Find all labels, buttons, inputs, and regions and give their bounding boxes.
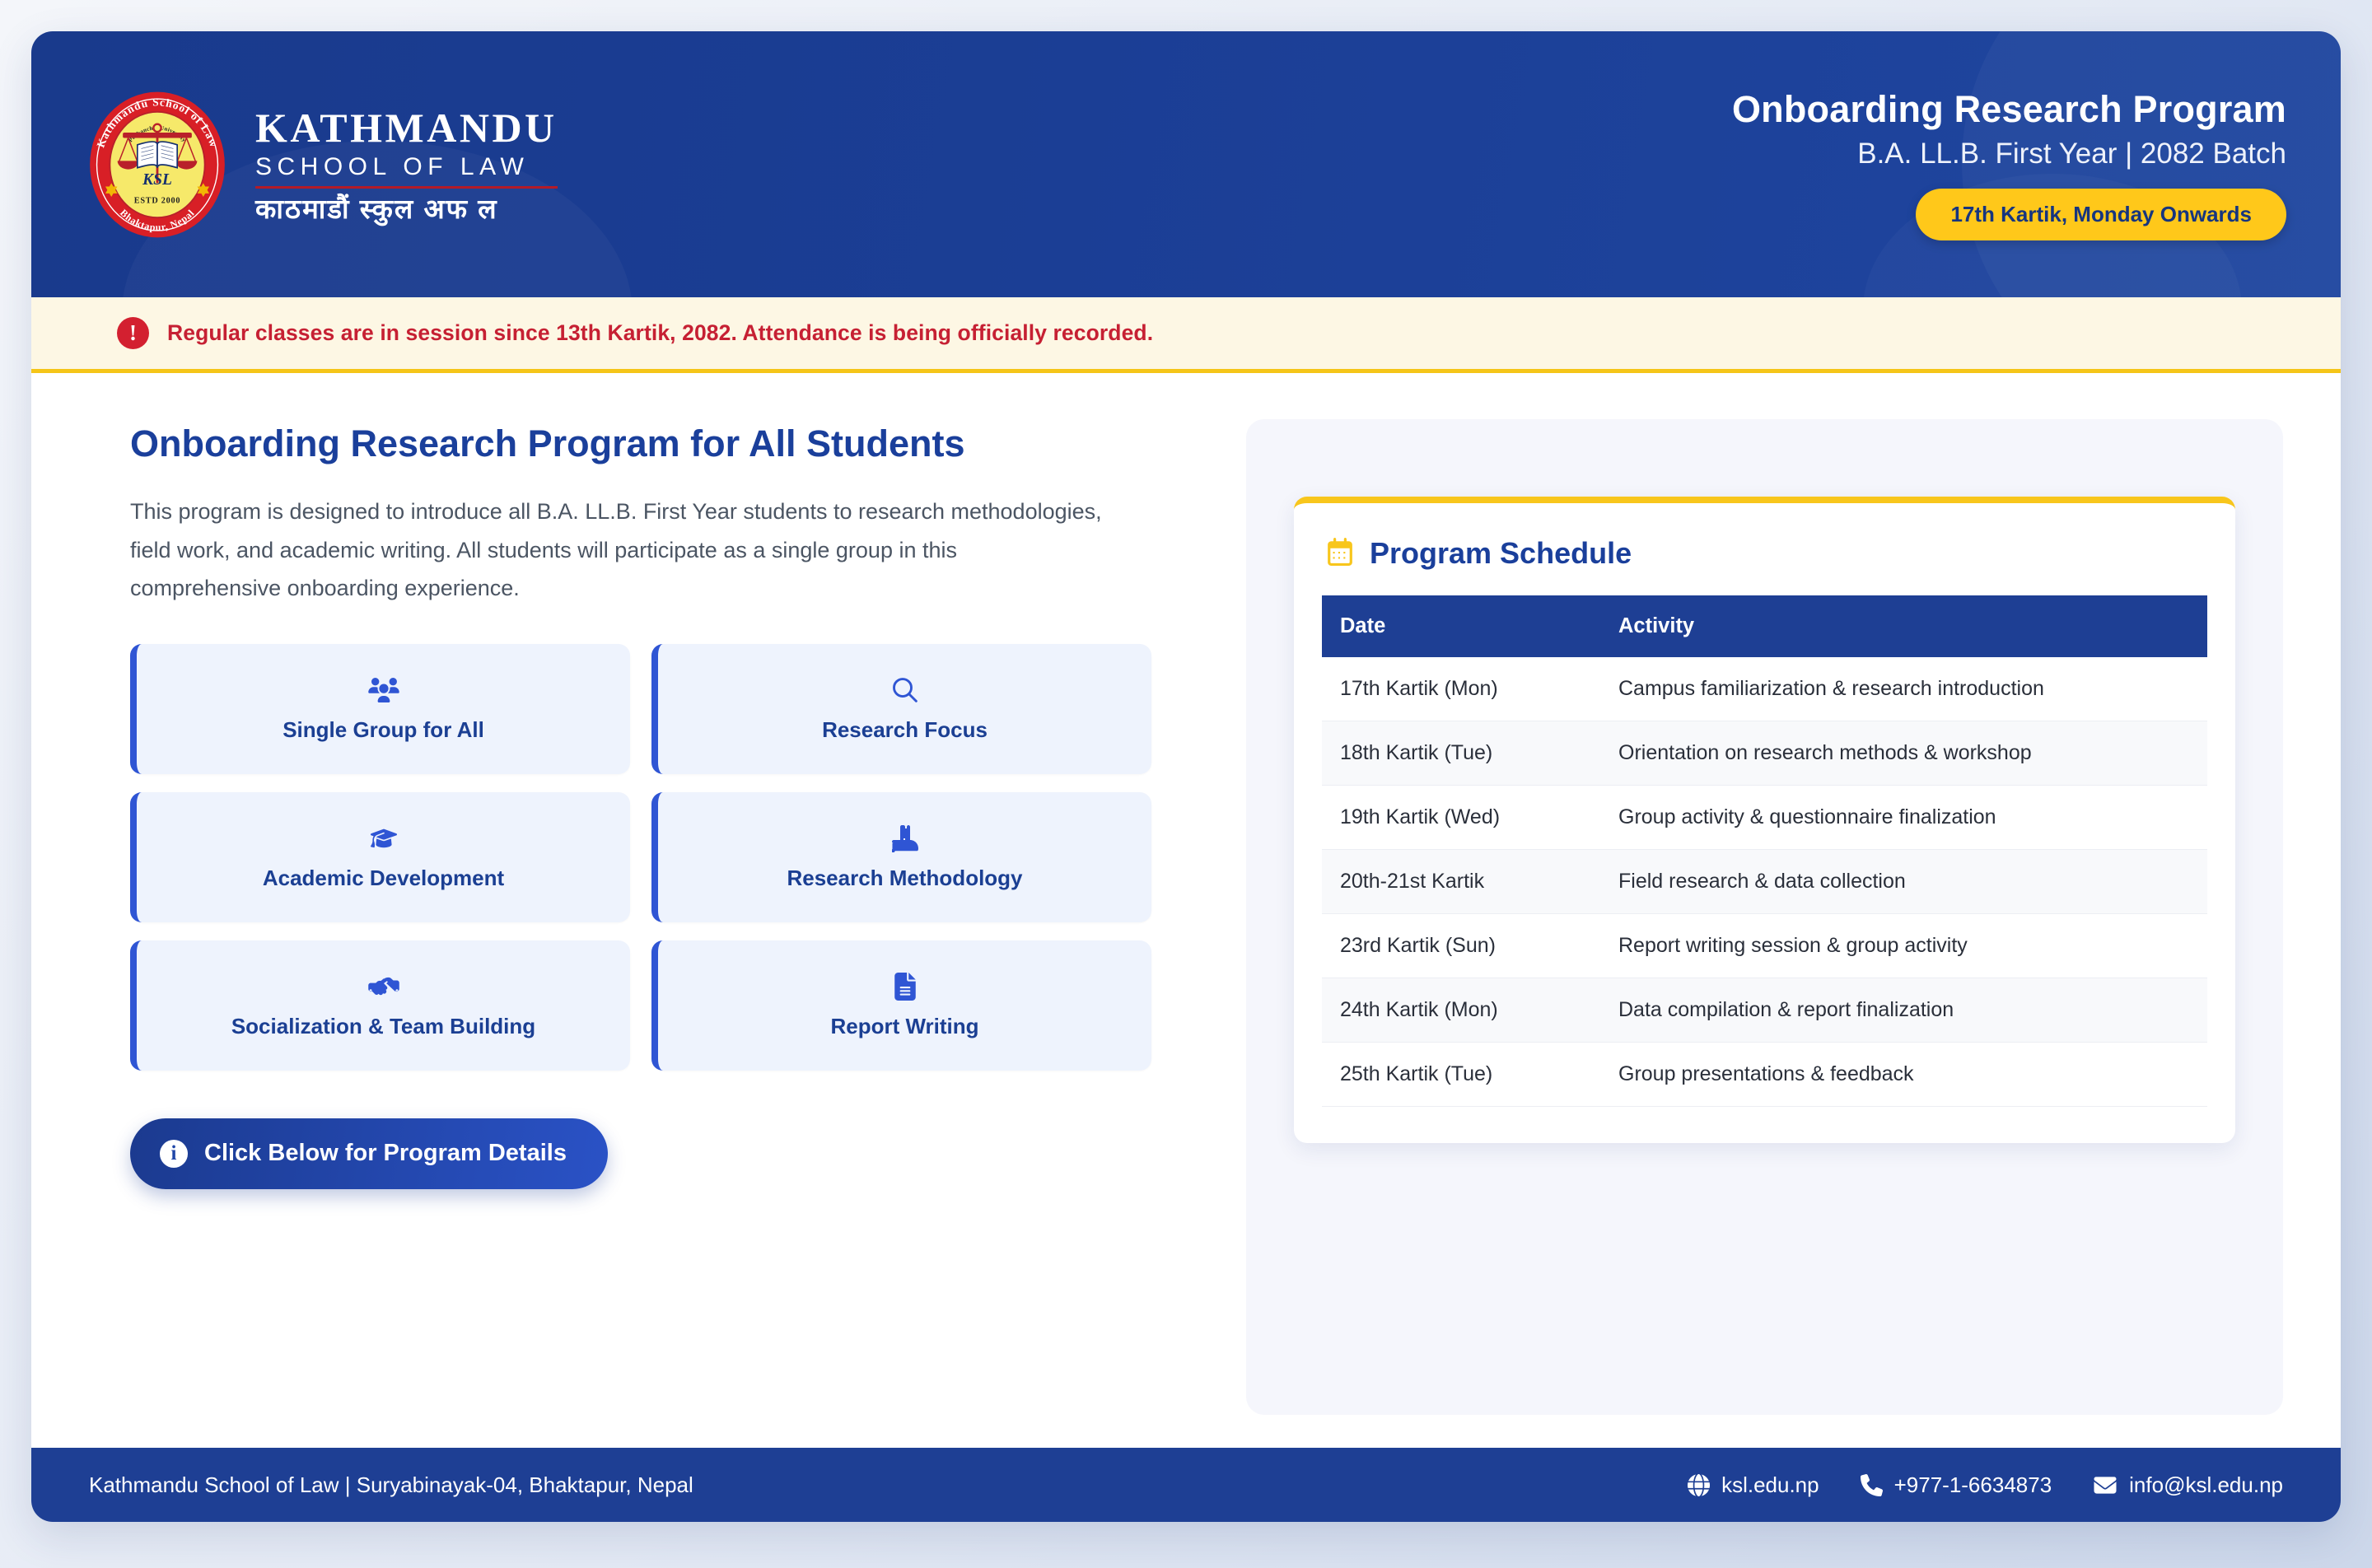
table-row: 18th Kartik (Tue) Orientation on researc…	[1322, 721, 2207, 786]
table-row: 19th Kartik (Wed) Group activity & quest…	[1322, 786, 2207, 850]
brand-lockup: Kathmandu School of Law Bhaktapur, Nepal…	[81, 88, 558, 241]
footer-phone[interactable]: +977-1-6634873	[1861, 1472, 2052, 1498]
brand-line1: KATHMANDU	[255, 107, 558, 149]
brand-line3: काठमाडौं स्कुल अफ ल	[255, 193, 558, 226]
handshake-icon	[368, 971, 399, 1002]
table-row: 24th Kartik (Mon) Data compilation & rep…	[1322, 978, 2207, 1043]
phone-icon	[1861, 1474, 1883, 1496]
microscope-icon	[892, 823, 918, 854]
feature-label: Academic Development	[263, 866, 504, 891]
graduation-cap-icon	[371, 823, 397, 854]
feature-label: Single Group for All	[282, 717, 484, 743]
program-details-button-label: Click Below for Program Details	[204, 1140, 567, 1167]
table-row: 23rd Kartik (Sun) Report writing session…	[1322, 914, 2207, 978]
brand-divider	[255, 186, 558, 189]
footer-contacts: ksl.edu.np +977-1-6634873 info@ksl.edu.n…	[1688, 1472, 2283, 1498]
cell-date: 20th-21st Kartik	[1322, 850, 1594, 914]
cell-activity: Group activity & questionnaire finalizat…	[1594, 786, 2207, 850]
feature-card-research-focus[interactable]: Research Focus	[651, 644, 1151, 774]
ksl-crest-icon: Kathmandu School of Law Bhaktapur, Nepal…	[81, 88, 234, 241]
feature-label: Research Methodology	[787, 866, 1022, 891]
feature-card-report-writing[interactable]: Report Writing	[651, 940, 1151, 1071]
footer-website-text: ksl.edu.np	[1721, 1472, 1819, 1498]
cell-activity: Field research & data collection	[1594, 850, 2207, 914]
cell-activity: Report writing session & group activity	[1594, 914, 2207, 978]
program-details-button[interactable]: i Click Below for Program Details	[130, 1118, 608, 1189]
attendance-alert-banner: ! Regular classes are in session since 1…	[31, 297, 2341, 373]
schedule-card: Program Schedule Date Activity 17th Kart…	[1294, 497, 2235, 1143]
calendar-icon	[1327, 538, 1353, 570]
schedule-table: Date Activity 17th Kartik (Mon) Campus f…	[1322, 595, 2207, 1107]
table-row: 20th-21st Kartik Field research & data c…	[1322, 850, 2207, 914]
feature-card-socialization[interactable]: Socialization & Team Building	[130, 940, 630, 1071]
cell-date: 19th Kartik (Wed)	[1322, 786, 1594, 850]
table-row: 17th Kartik (Mon) Campus familiarization…	[1322, 657, 2207, 721]
svg-text:ESTD 2000: ESTD 2000	[134, 196, 180, 205]
info-circle-icon: i	[160, 1140, 188, 1168]
cell-activity: Data compilation & report finalization	[1594, 978, 2207, 1043]
right-column: Program Schedule Date Activity 17th Kart…	[1246, 419, 2283, 1415]
left-column: Onboarding Research Program for All Stud…	[89, 419, 1246, 1415]
main-content: Onboarding Research Program for All Stud…	[31, 373, 2341, 1448]
footer-phone-text: +977-1-6634873	[1894, 1472, 2052, 1498]
cell-activity: Campus familiarization & research introd…	[1594, 657, 2207, 721]
start-date-badge: 17th Kartik, Monday Onwards	[1916, 189, 2286, 240]
globe-icon	[1688, 1474, 1710, 1496]
cell-activity: Orientation on research methods & worksh…	[1594, 721, 2207, 786]
users-group-icon	[368, 674, 399, 706]
schedule-title: Program Schedule	[1370, 536, 1632, 571]
footer-website[interactable]: ksl.edu.np	[1688, 1472, 1819, 1498]
header-program-info: Onboarding Research Program B.A. LL.B. F…	[1732, 88, 2286, 240]
footer-address: Kathmandu School of Law | Suryabinayak-0…	[89, 1472, 693, 1498]
feature-label: Socialization & Team Building	[231, 1014, 535, 1039]
feature-card-academic-development[interactable]: Academic Development	[130, 792, 630, 922]
table-header-row: Date Activity	[1322, 595, 2207, 657]
alert-text: Regular classes are in session since 13t…	[167, 320, 1153, 346]
cell-activity: Group presentations & feedback	[1594, 1043, 2207, 1107]
feature-card-grid: Single Group for All Research Focus Acad…	[130, 644, 1151, 1071]
magnifying-glass-icon	[892, 674, 918, 706]
cell-date: 25th Kartik (Tue)	[1322, 1043, 1594, 1107]
page-footer: Kathmandu School of Law | Suryabinayak-0…	[31, 1448, 2341, 1522]
footer-email[interactable]: info@ksl.edu.np	[2093, 1472, 2283, 1498]
envelope-icon	[2093, 1474, 2118, 1496]
cell-date: 18th Kartik (Tue)	[1322, 721, 1594, 786]
feature-card-single-group[interactable]: Single Group for All	[130, 644, 630, 774]
file-lines-icon	[894, 971, 917, 1002]
footer-email-text: info@ksl.edu.np	[2129, 1472, 2283, 1498]
cell-date: 24th Kartik (Mon)	[1322, 978, 1594, 1043]
table-row: 25th Kartik (Tue) Group presentations & …	[1322, 1043, 2207, 1107]
schedule-panel: Program Schedule Date Activity 17th Kart…	[1246, 419, 2283, 1415]
exclamation-circle-icon: !	[117, 317, 149, 349]
schedule-header: Program Schedule	[1322, 536, 2207, 571]
program-title: Onboarding Research Program	[1732, 88, 2286, 131]
cell-date: 23rd Kartik (Sun)	[1322, 914, 1594, 978]
page-header: Kathmandu School of Law Bhaktapur, Nepal…	[31, 31, 2341, 297]
column-header-date: Date	[1322, 595, 1594, 657]
brand-line2: SCHOOL OF LAW	[255, 151, 558, 183]
section-title: Onboarding Research Program for All Stud…	[130, 419, 970, 468]
feature-card-research-methodology[interactable]: Research Methodology	[651, 792, 1151, 922]
feature-label: Research Focus	[822, 717, 988, 743]
section-description: This program is designed to introduce al…	[130, 492, 1102, 607]
cell-date: 17th Kartik (Mon)	[1322, 657, 1594, 721]
program-subtitle: B.A. LL.B. First Year | 2082 Batch	[1857, 138, 2286, 170]
svg-text:KSL: KSL	[142, 171, 172, 189]
brand-text: KATHMANDU SCHOOL OF LAW काठमाडौं स्कुल अ…	[255, 104, 558, 226]
page-card: Kathmandu School of Law Bhaktapur, Nepal…	[31, 31, 2341, 1522]
column-header-activity: Activity	[1594, 595, 2207, 657]
feature-label: Report Writing	[830, 1014, 978, 1039]
